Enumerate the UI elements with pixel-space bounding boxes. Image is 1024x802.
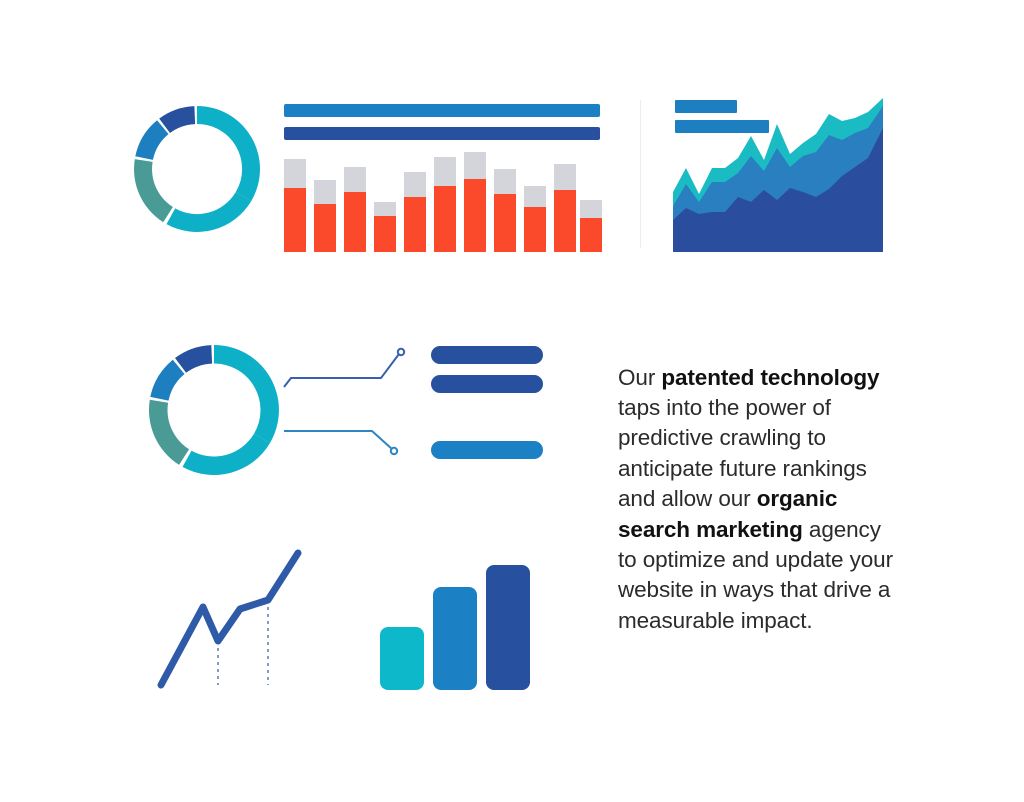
header-bar-secondary: [284, 127, 600, 140]
bar-group-7: [464, 152, 486, 252]
area-legend-bar-1: [675, 100, 737, 113]
bar-group-11: [580, 200, 602, 252]
bottom-bar-1: [380, 627, 424, 690]
donut-segment-c: [135, 120, 168, 160]
bar-chart-bottom: [380, 565, 530, 690]
donut-segment-b: [134, 159, 173, 222]
donut-chart-bottom: [141, 337, 287, 483]
bar-group-3: [344, 167, 366, 252]
donut2-segment-d: [175, 345, 212, 373]
text-segment-1: patented technology: [661, 365, 879, 390]
donut-segment-a: [197, 106, 260, 201]
bar-group-1: [284, 159, 306, 252]
legend-pill-3: [431, 441, 543, 459]
donut-chart-top: [126, 96, 268, 242]
donut2-segment-a-2: [183, 434, 270, 475]
bar-group-2: [314, 180, 336, 252]
bar-group-10: [554, 164, 576, 252]
line-series: [161, 553, 298, 685]
section-divider: [640, 100, 641, 248]
legend-pill-2: [431, 375, 543, 393]
donut-segment-a-2: [167, 192, 252, 232]
bar-group-8: [494, 169, 516, 252]
donut2-segment-c: [150, 360, 184, 401]
body-paragraph: Our patented technology taps into the po…: [618, 363, 896, 637]
bar-group-6: [434, 157, 456, 252]
callout-upper-endpoint-icon: [398, 349, 404, 355]
callout-lower-endpoint-icon: [391, 448, 397, 454]
infographic-canvas: Our patented technology taps into the po…: [0, 0, 1024, 802]
area-legend-bar-2: [675, 120, 769, 133]
bar-chart-top: [284, 152, 602, 252]
callout-lower-line: [284, 431, 392, 449]
bar-group-5: [404, 172, 426, 252]
header-bar-primary: [284, 104, 600, 117]
legend-pill-1: [431, 346, 543, 364]
bar-group-4: [374, 202, 396, 252]
bar-group-9: [524, 186, 546, 252]
callout-upper-line: [284, 354, 399, 387]
donut-segment-d: [159, 106, 195, 133]
line-chart-bottom: [155, 545, 310, 690]
bottom-bar-2: [433, 587, 477, 690]
bottom-bar-3: [486, 565, 530, 690]
donut-callout-lines: [280, 340, 410, 460]
donut2-segment-b: [149, 400, 189, 465]
text-segment-0: Our: [618, 365, 661, 390]
donut2-segment-a: [214, 345, 279, 443]
